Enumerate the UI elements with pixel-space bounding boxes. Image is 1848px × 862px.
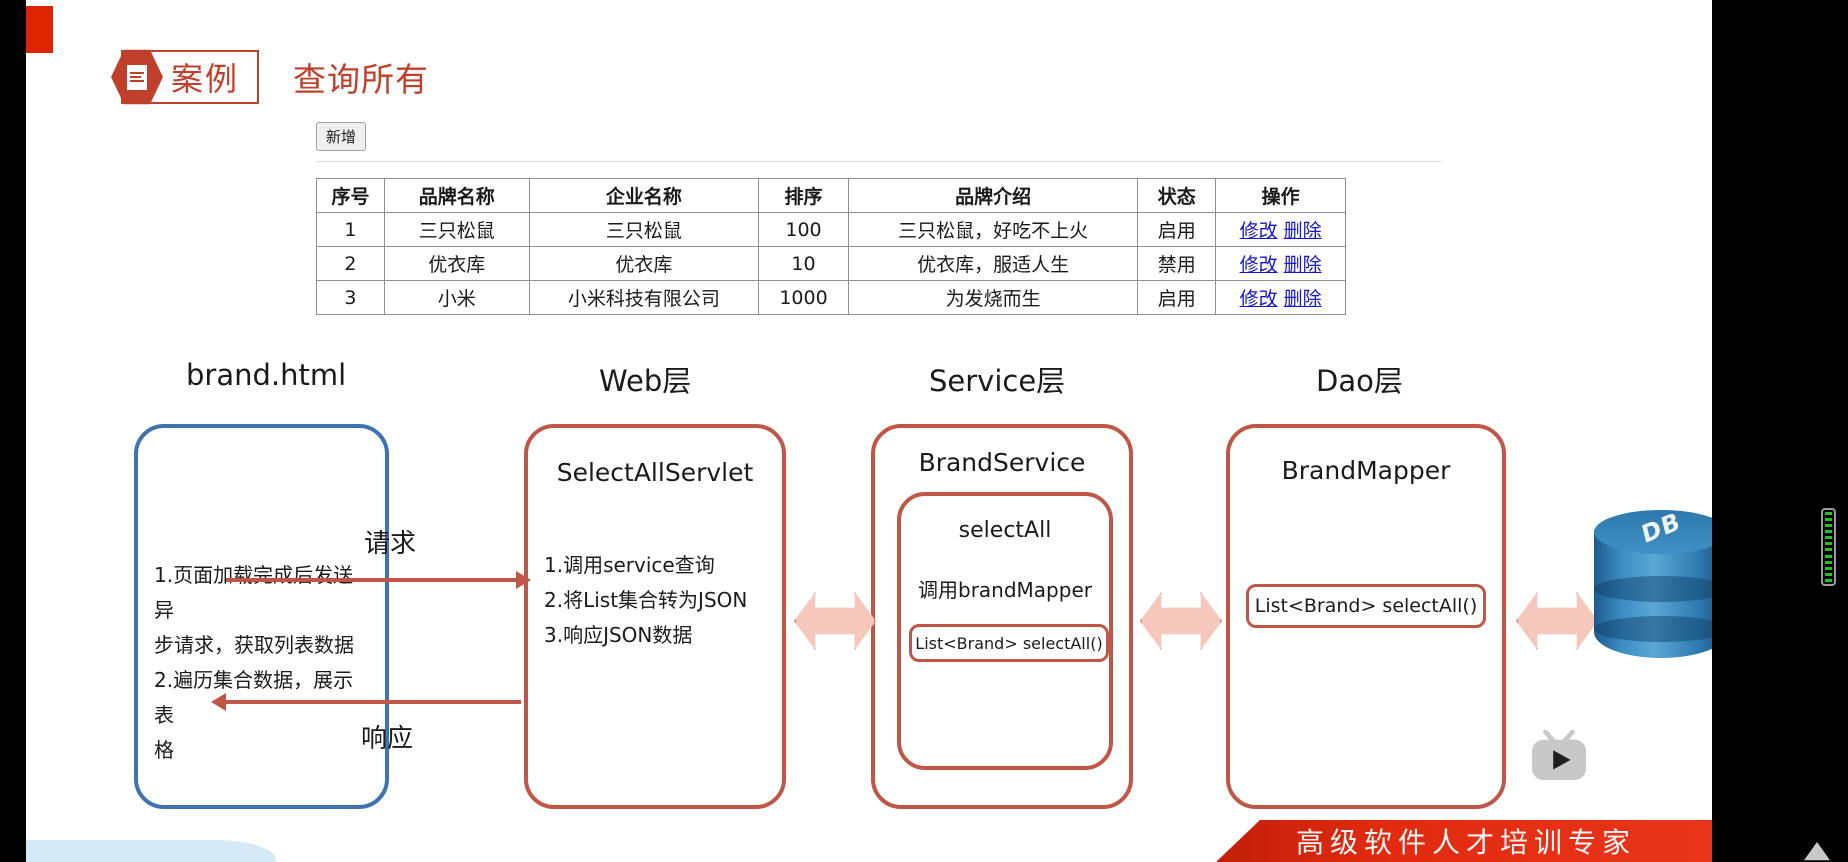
add-button[interactable]: 新增 <box>316 122 366 151</box>
table-row: 1 三只松鼠 三只松鼠 100 三只松鼠，好吃不上火 启用 修改删除 <box>317 213 1346 247</box>
brand-html-line-1: 1.页面加载完成后发送异 <box>154 558 371 628</box>
col-header-actions: 操作 <box>1216 179 1346 213</box>
browser-screenshot: 新增 序号 品牌名称 企业名称 排序 品牌介绍 状态 操作 <box>316 122 1346 315</box>
service-signature-pill: List<Brand> selectAll() <box>909 624 1109 662</box>
double-arrow-web-service <box>794 592 876 650</box>
service-box-title: BrandService <box>875 448 1129 477</box>
cell-ordinal: 1000 <box>759 281 849 315</box>
brand-html-line-2: 步请求，获取列表数据 <box>154 628 371 663</box>
table-row: 3 小米 小米科技有限公司 1000 为发烧而生 启用 修改删除 <box>317 281 1346 315</box>
edit-link[interactable]: 修改 <box>1240 254 1278 276</box>
dao-box-title: BrandMapper <box>1230 456 1502 485</box>
layer-title-dao: Dao层 <box>1316 358 1403 400</box>
page-title: 查询所有 <box>293 53 429 101</box>
col-header-id: 序号 <box>317 179 385 213</box>
cell-id: 2 <box>317 247 385 281</box>
layer-title-web: Web层 <box>599 358 691 400</box>
request-arrow-head <box>516 571 531 589</box>
box-select-all-servlet: SelectAllServlet 1.调用service查询 2.将List集合… <box>524 424 786 809</box>
request-arrow-line <box>226 578 521 582</box>
cell-company: 优衣库 <box>529 247 759 281</box>
document-hex-icon <box>111 48 163 106</box>
col-header-company: 企业名称 <box>529 179 759 213</box>
box-brand-mapper: BrandMapper List<Brand> selectAll() <box>1226 424 1506 809</box>
brand-html-notes: 1.页面加载完成后发送异 步请求，获取列表数据 2.遍历集合数据，展示表 格 <box>154 558 371 768</box>
delete-link[interactable]: 删除 <box>1284 288 1322 310</box>
web-box-title: SelectAllServlet <box>528 458 782 487</box>
box-brand-service: BrandService selectAll 调用brandMapper Lis… <box>871 424 1133 809</box>
cell-company: 小米科技有限公司 <box>529 281 759 315</box>
volume-level-meter[interactable] <box>1821 508 1836 586</box>
slide-heading: 案例 查询所有 <box>121 50 429 104</box>
watermark-banner: 高级软件人才培训专家 <box>1216 820 1712 862</box>
case-badge-label: 案例 <box>171 54 239 100</box>
cell-description: 优衣库，服适人生 <box>848 247 1137 281</box>
dao-signature-pill: List<Brand> selectAll() <box>1246 584 1486 628</box>
cell-status: 启用 <box>1138 281 1216 315</box>
cell-brand: 优衣库 <box>384 247 529 281</box>
web-line-1: 1.调用service查询 <box>544 548 768 583</box>
cell-status: 启用 <box>1138 213 1216 247</box>
double-arrow-dao-database <box>1516 592 1598 650</box>
cell-actions: 修改删除 <box>1216 213 1346 247</box>
web-line-3: 3.响应JSON数据 <box>544 618 768 653</box>
cell-id: 1 <box>317 213 385 247</box>
brand-table: 序号 品牌名称 企业名称 排序 品牌介绍 状态 操作 1 三只松鼠 三只松鼠 1 <box>316 178 1346 315</box>
cell-brand: 小米 <box>384 281 529 315</box>
layer-title-brand-html: brand.html <box>186 358 346 392</box>
col-header-brand: 品牌名称 <box>384 179 529 213</box>
cell-actions: 修改删除 <box>1216 247 1346 281</box>
letterbox-left <box>0 0 26 862</box>
red-marker <box>26 6 53 53</box>
cell-description: 三只松鼠，好吃不上火 <box>848 213 1137 247</box>
presentation-slide: 案例 查询所有 新增 序号 品牌名称 企业名称 排序 品牌介绍 状态 操作 <box>26 0 1712 862</box>
video-player: 案例 查询所有 新增 序号 品牌名称 企业名称 排序 品牌介绍 状态 操作 <box>0 0 1848 862</box>
box-brand-html: 1.页面加载完成后发送异 步请求，获取列表数据 2.遍历集合数据，展示表 格 <box>134 424 389 809</box>
service-method-name: selectAll <box>901 518 1109 543</box>
edit-link[interactable]: 修改 <box>1240 288 1278 310</box>
bilibili-play-logo-icon[interactable] <box>1528 730 1590 784</box>
cell-id: 3 <box>317 281 385 315</box>
cell-ordinal: 10 <box>759 247 849 281</box>
cell-actions: 修改删除 <box>1216 281 1346 315</box>
cell-description: 为发烧而生 <box>848 281 1137 315</box>
col-header-status: 状态 <box>1138 179 1216 213</box>
delete-link[interactable]: 删除 <box>1284 254 1322 276</box>
letterbox-right <box>1712 0 1848 862</box>
service-method-box: selectAll 调用brandMapper List<Brand> sele… <box>897 492 1113 770</box>
brand-html-line-4: 格 <box>154 733 371 768</box>
edit-link[interactable]: 修改 <box>1240 220 1278 242</box>
table-header-row: 序号 品牌名称 企业名称 排序 品牌介绍 状态 操作 <box>317 179 1346 213</box>
col-header-description: 品牌介绍 <box>848 179 1137 213</box>
cell-ordinal: 100 <box>759 213 849 247</box>
request-arrow-label: 请求 <box>364 523 416 560</box>
database-icon: DB <box>1594 510 1712 676</box>
delete-link[interactable]: 删除 <box>1284 220 1322 242</box>
col-header-ordinal: 排序 <box>759 179 849 213</box>
web-line-2: 2.将List集合转为JSON <box>544 583 768 618</box>
divider <box>316 161 1441 162</box>
watermark-text: 高级软件人才培训专家 <box>1296 821 1636 861</box>
double-arrow-service-dao <box>1140 592 1222 650</box>
decorative-wave <box>26 840 276 862</box>
response-arrow-label: 响应 <box>361 718 413 755</box>
table-row: 2 优衣库 优衣库 10 优衣库，服适人生 禁用 修改删除 <box>317 247 1346 281</box>
cell-brand: 三只松鼠 <box>384 213 529 247</box>
cell-status: 禁用 <box>1138 247 1216 281</box>
response-arrow-line <box>226 700 521 704</box>
response-arrow-head <box>211 693 226 711</box>
case-badge: 案例 <box>121 50 259 104</box>
service-method-note: 调用brandMapper <box>901 574 1109 603</box>
layer-title-service: Service层 <box>929 358 1065 400</box>
web-box-notes: 1.调用service查询 2.将List集合转为JSON 3.响应JSON数据 <box>544 548 768 653</box>
cell-company: 三只松鼠 <box>529 213 759 247</box>
brand-html-line-3: 2.遍历集合数据，展示表 <box>154 663 371 733</box>
